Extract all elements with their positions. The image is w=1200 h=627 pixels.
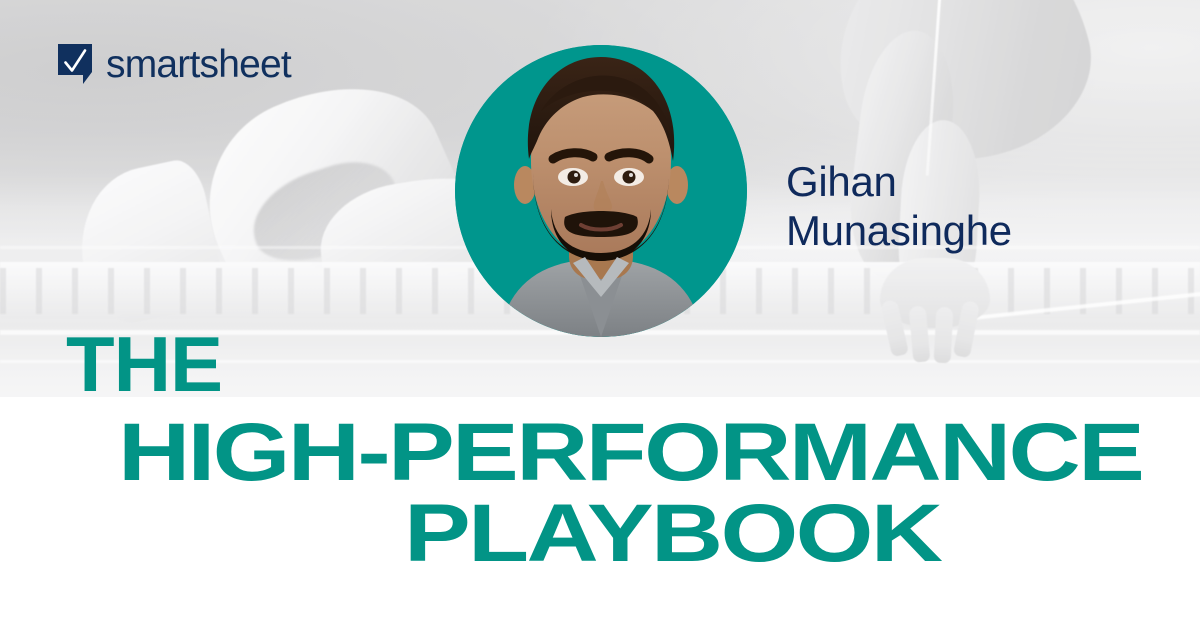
lower-white-panel [0, 397, 1200, 627]
smartsheet-wordmark: smartsheet [106, 45, 291, 84]
speaker-last-name: Munasinghe [786, 207, 1116, 256]
promo-banner: smartsheet [0, 0, 1200, 627]
track-line-lower [0, 360, 1200, 363]
runner-finger-3 [934, 307, 954, 364]
speaker-name: Gihan Munasinghe [786, 158, 1116, 255]
smartsheet-logo[interactable]: smartsheet [58, 44, 291, 84]
speaker-portrait-image [455, 45, 747, 337]
speaker-avatar [455, 45, 747, 337]
smartsheet-checkmark-icon [58, 44, 92, 84]
speaker-first-name: Gihan [786, 158, 1116, 207]
